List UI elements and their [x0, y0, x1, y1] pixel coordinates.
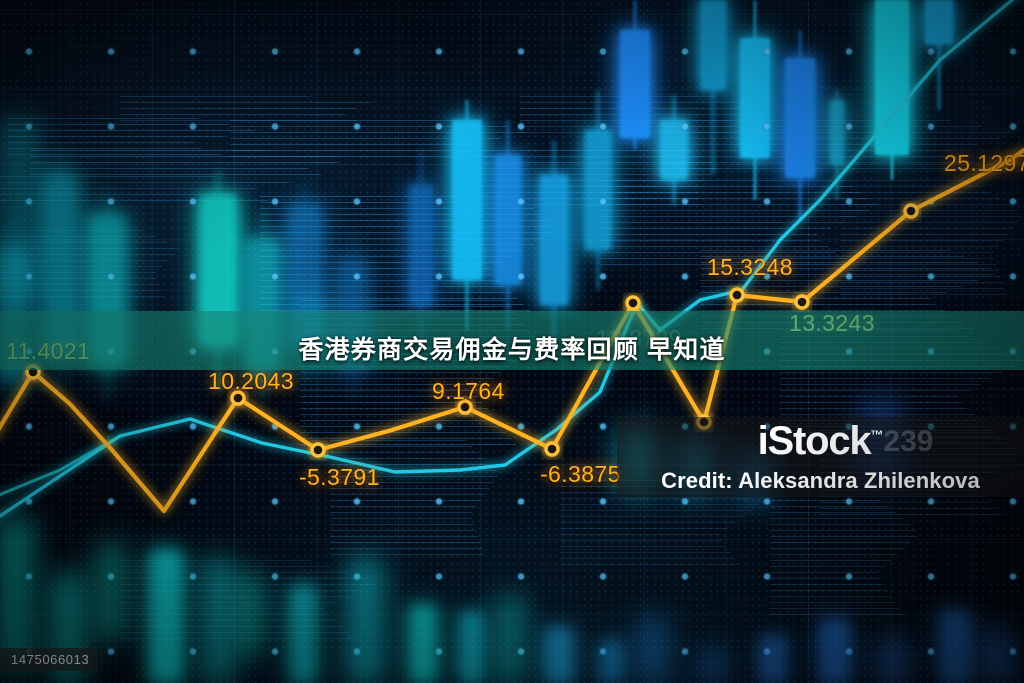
data-point-marker [312, 444, 324, 456]
data-point-marker [731, 289, 743, 301]
screenshot-canvas: 11.402110.2043-5.37919.1764-6.387512.872… [0, 0, 1024, 683]
istock-watermark: iStock™ 239 Credit: Aleksandra Zhilenkov… [617, 417, 1024, 497]
data-point-marker [796, 296, 808, 308]
title-overlay-text: 香港券商交易佣金与费率回顾 早知道 [0, 330, 1024, 366]
cyan-series-path-secondary [0, 436, 120, 497]
value-label: 10.2043 [208, 368, 294, 395]
istock-logo-text: iStock [758, 419, 871, 463]
value-label: 25.1297 [944, 150, 1024, 177]
istock-logo: iStock™ 239 [758, 421, 884, 461]
watermark-ghost-digits: 239 [883, 427, 933, 457]
value-label: -5.3791 [299, 464, 380, 491]
data-point-marker [627, 297, 639, 309]
watermark-credit: Credit: Aleksandra Zhilenkova [661, 468, 980, 494]
value-label: -6.3875 [540, 461, 621, 488]
value-label: 9.1764 [432, 378, 505, 405]
data-point-marker [546, 443, 558, 455]
value-label: 15.3248 [707, 254, 793, 281]
asset-id-tag: 1475066013 [0, 648, 98, 671]
trademark-icon: ™ [870, 427, 883, 442]
data-point-marker [905, 205, 917, 217]
